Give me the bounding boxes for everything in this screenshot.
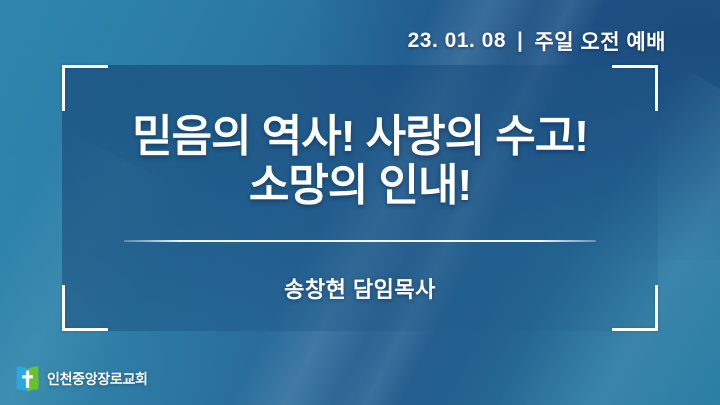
church-name: 인천중앙장로교회 [47,369,148,389]
header-separator: | [515,29,525,53]
church-logo: 인천중앙장로교회 [15,365,148,393]
speaker-name: 송창현 담임목사 [62,272,658,304]
service-date: 23. 01. 08 [408,29,506,53]
sermon-title-line-2: 소망의 인내! [62,161,658,210]
sermon-title: 믿음의 역사! 사랑의 수고! 소망의 인내! [62,112,658,211]
open-book-cross-icon [15,365,40,393]
service-name: 주일 오전 예배 [534,26,666,56]
sermon-title-line-1: 믿음의 역사! 사랑의 수고! [62,112,658,161]
title-divider [124,240,596,242]
corner-bracket-top-left [62,65,108,111]
header-meta: 23. 01. 08 | 주일 오전 예배 [408,26,666,56]
sermon-title-slide: 23. 01. 08 | 주일 오전 예배 믿음의 역사! 사랑의 수고! 소망… [0,0,720,405]
corner-bracket-top-right [612,65,658,111]
